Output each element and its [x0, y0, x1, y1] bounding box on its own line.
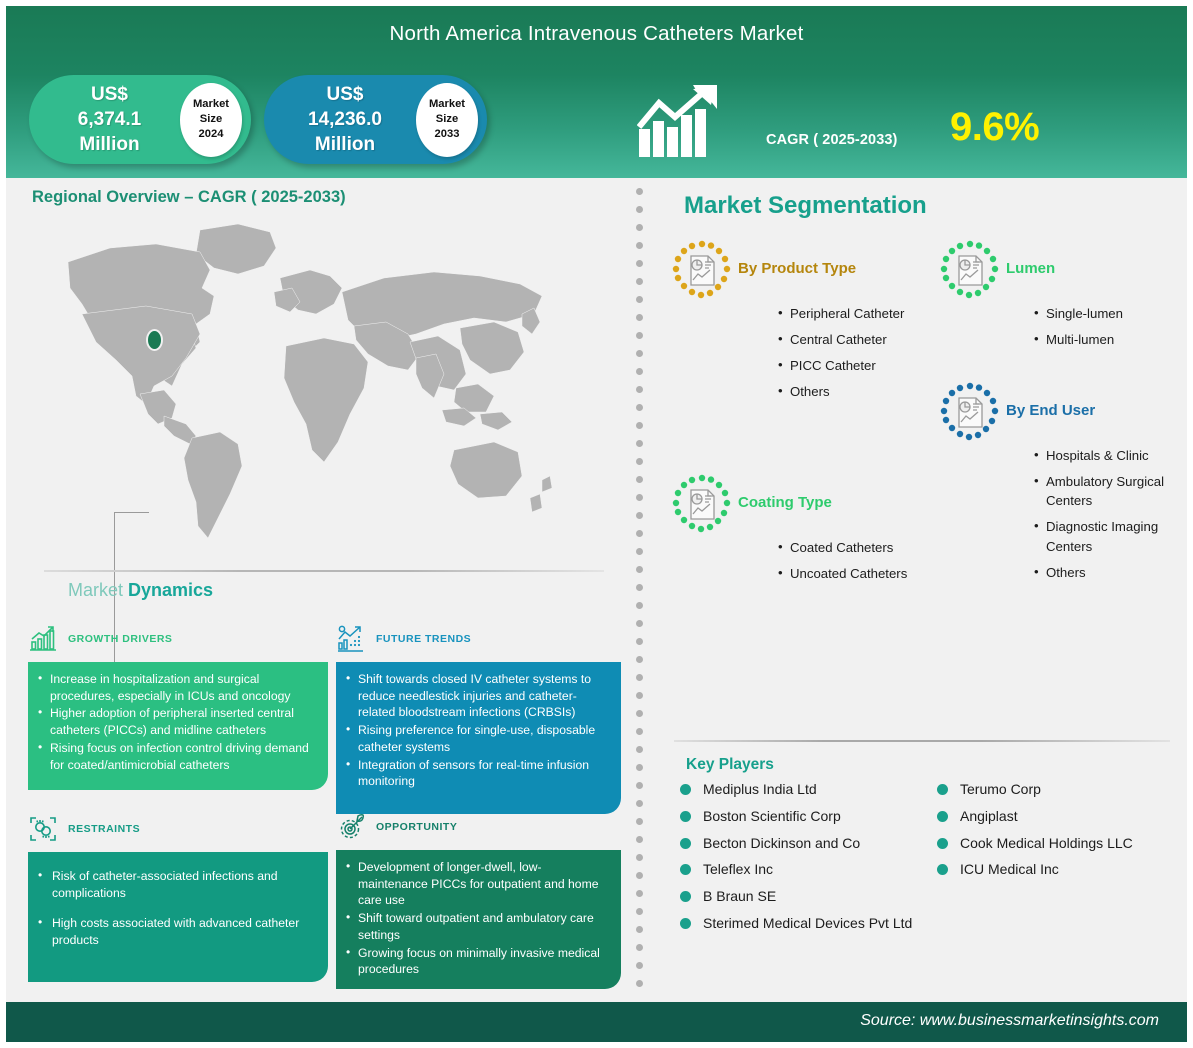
divider-dot	[636, 332, 643, 339]
dynamics-card-growth-drivers: GROWTH DRIVERS Increase in hospitalizati…	[28, 622, 328, 790]
divider-dot	[636, 638, 643, 645]
bullet-dot-icon	[680, 864, 691, 875]
segment-name: Coating Type	[738, 474, 832, 511]
right-column: Market Segmentation	[652, 178, 1187, 1002]
divider-dot	[636, 476, 643, 483]
list-item: Uncoated Catheters	[776, 564, 907, 583]
bullet-dot-icon	[680, 891, 691, 902]
divider-dot	[636, 890, 643, 897]
divider-dot	[636, 458, 643, 465]
market-size-2024-text: US$ 6,374.1 Million	[29, 82, 180, 157]
report-document-chart-icon	[940, 382, 1000, 442]
cagr-value: 9.6%	[950, 105, 1039, 150]
divider	[44, 570, 604, 572]
segment-list: Peripheral Catheter Central Catheter PIC…	[776, 304, 904, 402]
card-label: FUTURE TRENDS	[376, 633, 471, 645]
divider-dot	[636, 962, 643, 969]
player-name: Sterimed Medical Devices Pvt Ltd	[703, 914, 912, 933]
md-title-light: Market	[68, 580, 128, 600]
card-header: FUTURE TRENDS	[336, 622, 621, 656]
badge-line-1: Market	[193, 97, 229, 112]
divider-dot	[636, 296, 643, 303]
card-header: OPPORTUNITY	[336, 810, 621, 844]
divider-dot	[636, 530, 643, 537]
dynamics-card-restraints: RESTRAINTS Risk of catheter-associated i…	[28, 812, 328, 982]
segment-header: Lumen	[940, 240, 1123, 300]
list-item: Higher adoption of peripheral inserted c…	[38, 705, 316, 738]
source-text: Source: www.businessmarketinsights.com	[860, 1012, 1159, 1030]
card-list: Development of longer-dwell, low-mainten…	[346, 859, 609, 978]
list-item: Shift toward outpatient and ambulatory c…	[346, 910, 609, 943]
divider-dot	[636, 350, 643, 357]
key-players-column-2: Terumo Corp Angiplast Cook Medical Holdi…	[937, 780, 1180, 941]
badge-line-1: Market	[429, 97, 465, 112]
card-header: RESTRAINTS	[28, 812, 328, 846]
segment-header: By End User	[940, 382, 1182, 442]
card-list: Increase in hospitalization and surgical…	[38, 671, 316, 773]
gear-target-opportunity-icon	[336, 812, 366, 842]
list-item: Boston Scientific Corp	[680, 807, 923, 826]
segment-name: By Product Type	[738, 240, 856, 277]
pill-unit: Million	[315, 134, 375, 155]
card-list: Shift towards closed IV catheter systems…	[346, 671, 609, 790]
divider-dot	[636, 854, 643, 861]
list-item: Rising preference for single-use, dispos…	[346, 722, 609, 755]
report-document-chart-icon	[672, 474, 732, 534]
md-title-bold: Dynamics	[128, 580, 213, 600]
divider-dot	[636, 242, 643, 249]
pill-currency: US$	[327, 84, 364, 105]
card-header: GROWTH DRIVERS	[28, 622, 328, 656]
list-item: Shift towards closed IV catheter systems…	[346, 671, 609, 721]
divider-dot	[636, 944, 643, 951]
divider-dot	[636, 584, 643, 591]
segment-list: Coated Catheters Uncoated Catheters	[776, 538, 907, 583]
divider-dot	[636, 746, 643, 753]
bullet-dot-icon	[680, 784, 691, 795]
divider-dot	[636, 836, 643, 843]
divider-dot	[636, 710, 643, 717]
segment-name: By End User	[1006, 382, 1095, 419]
bullet-dot-icon	[680, 811, 691, 822]
trend-line-chart-icon	[336, 624, 366, 654]
key-players-list: Mediplus India Ltd Boston Scientific Cor…	[680, 780, 923, 933]
page-title: North America Intravenous Catheters Mark…	[6, 22, 1187, 46]
list-item: Multi-lumen	[1032, 330, 1123, 349]
list-item: Hospitals & Clinic	[1032, 446, 1182, 465]
divider-dot	[636, 908, 643, 915]
card-list: Risk of catheter-associated infections a…	[38, 868, 316, 949]
list-item: Others	[1032, 563, 1182, 582]
player-name: Angiplast	[960, 807, 1018, 826]
market-size-badge-2024: Market Size 2024	[180, 83, 242, 157]
divider-dot	[636, 674, 643, 681]
player-name: Cook Medical Holdings LLC	[960, 834, 1133, 853]
divider-dot	[636, 206, 643, 213]
player-name: ICU Medical Inc	[960, 860, 1059, 879]
cagr-label: CAGR ( 2025-2033)	[766, 132, 897, 148]
pill-value: 14,236.0	[308, 109, 382, 130]
market-size-badge-2033: Market Size 2033	[416, 83, 478, 157]
bullet-dot-icon	[937, 811, 948, 822]
left-column: Regional Overview – CAGR ( 2025-2033)	[6, 178, 634, 1002]
list-item: Mediplus India Ltd	[680, 780, 923, 799]
card-body: Development of longer-dwell, low-mainten…	[336, 850, 621, 989]
list-item: Risk of catheter-associated infections a…	[38, 868, 316, 901]
report-document-chart-icon	[672, 240, 732, 300]
list-item: Cook Medical Holdings LLC	[937, 834, 1180, 853]
list-item: Peripheral Catheter	[776, 304, 904, 323]
bullet-dot-icon	[680, 918, 691, 929]
divider-dot	[636, 872, 643, 879]
divider-dot	[636, 404, 643, 411]
key-players-column-1: Mediplus India Ltd Boston Scientific Cor…	[680, 780, 923, 941]
key-players-list: Terumo Corp Angiplast Cook Medical Holdi…	[937, 780, 1180, 879]
world-map	[24, 218, 624, 558]
growth-chart-arrow-icon	[637, 83, 723, 159]
segment-group-lumen: Lumen Single-lumen Multi-lumen	[940, 240, 1123, 356]
report-document-chart-icon	[940, 240, 1000, 300]
badge-line-3: 2033	[435, 127, 460, 142]
divider-dot	[636, 764, 643, 771]
regional-overview-title: Regional Overview – CAGR ( 2025-2033)	[32, 188, 346, 207]
list-item: Single-lumen	[1032, 304, 1123, 323]
divider-dot	[636, 548, 643, 555]
list-item: Increase in hospitalization and surgical…	[38, 671, 316, 704]
list-item: ICU Medical Inc	[937, 860, 1180, 879]
list-item: Development of longer-dwell, low-mainten…	[346, 859, 609, 909]
market-size-2033-text: US$ 14,236.0 Million	[264, 82, 416, 157]
divider-dot	[636, 602, 643, 609]
divider-dot	[636, 260, 643, 267]
list-item: Teleflex Inc	[680, 860, 923, 879]
segment-group-product-type: By Product Type Peripheral Catheter Cent…	[672, 240, 904, 409]
bullet-dot-icon	[937, 784, 948, 795]
divider-dot	[636, 692, 643, 699]
callout-leader-horizontal	[114, 512, 149, 513]
list-item: Rising focus on infection control drivin…	[38, 740, 316, 773]
card-body: Increase in hospitalization and surgical…	[28, 662, 328, 790]
divider-dot	[636, 566, 643, 573]
divider-dot	[636, 278, 643, 285]
player-name: Boston Scientific Corp	[703, 807, 841, 826]
list-item: Central Catheter	[776, 330, 904, 349]
list-item: PICC Catheter	[776, 356, 904, 375]
pill-unit: Million	[79, 134, 139, 155]
dotted-divider	[636, 188, 646, 994]
list-item: Growing focus on minimally invasive medi…	[346, 945, 609, 978]
list-item: Ambulatory Surgical Centers	[1032, 472, 1182, 510]
dynamics-card-opportunity: OPPORTUNITY Development of longer-dwell,…	[336, 810, 621, 989]
list-item: Integration of sensors for real-time inf…	[346, 757, 609, 790]
bar-chart-growth-icon	[28, 624, 58, 654]
divider-dot	[636, 926, 643, 933]
list-item: Angiplast	[937, 807, 1180, 826]
body-area: Regional Overview – CAGR ( 2025-2033)	[6, 178, 1187, 1002]
player-name: Terumo Corp	[960, 780, 1041, 799]
divider-dot	[636, 800, 643, 807]
segment-list: Hospitals & Clinic Ambulatory Surgical C…	[1032, 446, 1182, 582]
list-item: High costs associated with advanced cath…	[38, 915, 316, 948]
market-dynamics-title: Market Dynamics	[68, 580, 213, 601]
card-body: Shift towards closed IV catheter systems…	[336, 662, 621, 814]
list-item: Becton Dickinson and Co	[680, 834, 923, 853]
player-name: B Braun SE	[703, 887, 776, 906]
market-size-pill-2024: US$ 6,374.1 Million Market Size 2024	[29, 75, 251, 164]
segment-header: By Product Type	[672, 240, 904, 300]
divider-dot	[636, 656, 643, 663]
player-name: Teleflex Inc	[703, 860, 773, 879]
divider-dot	[636, 422, 643, 429]
pill-value: 6,374.1	[78, 109, 141, 130]
list-item: B Braun SE	[680, 887, 923, 906]
segment-list: Single-lumen Multi-lumen	[1032, 304, 1123, 349]
key-players-title: Key Players	[686, 756, 774, 774]
list-item: Terumo Corp	[937, 780, 1180, 799]
header-banner: North America Intravenous Catheters Mark…	[6, 6, 1187, 178]
list-item: Others	[776, 382, 904, 401]
divider-dot	[636, 188, 643, 195]
list-item: Diagnostic Imaging Centers	[1032, 517, 1182, 555]
player-name: Mediplus India Ltd	[703, 780, 817, 799]
divider-dot	[636, 818, 643, 825]
segment-header: Coating Type	[672, 474, 907, 534]
divider-dot	[636, 440, 643, 447]
footer-bar: Source: www.businessmarketinsights.com	[6, 1002, 1187, 1042]
list-item: Coated Catheters	[776, 538, 907, 557]
chain-link-restraint-icon	[28, 814, 58, 844]
market-segmentation-title: Market Segmentation	[684, 192, 927, 220]
pill-currency: US$	[91, 84, 128, 105]
divider-dot	[636, 386, 643, 393]
map-pin-marker	[146, 329, 163, 351]
divider-dot	[636, 368, 643, 375]
card-label: GROWTH DRIVERS	[68, 633, 172, 645]
divider-dot	[636, 980, 643, 987]
bullet-dot-icon	[937, 838, 948, 849]
player-name: Becton Dickinson and Co	[703, 834, 860, 853]
badge-line-2: Size	[436, 112, 458, 127]
infographic-page: North America Intravenous Catheters Mark…	[0, 0, 1193, 1048]
divider-dot	[636, 494, 643, 501]
card-body: Risk of catheter-associated infections a…	[28, 852, 328, 982]
list-item: Sterimed Medical Devices Pvt Ltd	[680, 914, 923, 933]
bullet-dot-icon	[937, 864, 948, 875]
key-players-columns: Mediplus India Ltd Boston Scientific Cor…	[680, 780, 1180, 941]
divider-dot	[636, 728, 643, 735]
bullet-dot-icon	[680, 838, 691, 849]
segment-group-end-user: By End User Hospitals & Clinic Ambulator…	[940, 382, 1182, 589]
segment-name: Lumen	[1006, 240, 1055, 277]
market-size-pill-2033: US$ 14,236.0 Million Market Size 2033	[264, 75, 487, 164]
divider-dot	[636, 224, 643, 231]
key-players-divider	[674, 740, 1170, 742]
badge-line-3: 2024	[199, 127, 224, 142]
dynamics-card-future-trends: FUTURE TRENDS Shift towards closed IV ca…	[336, 622, 621, 814]
divider-dot	[636, 782, 643, 789]
divider-dot	[636, 314, 643, 321]
card-label: OPPORTUNITY	[376, 821, 457, 833]
card-label: RESTRAINTS	[68, 823, 140, 835]
segment-group-coating-type: Coating Type Coated Catheters Uncoated C…	[672, 474, 907, 590]
divider-dot	[636, 620, 643, 627]
badge-line-2: Size	[200, 112, 222, 127]
divider-dot	[636, 512, 643, 519]
